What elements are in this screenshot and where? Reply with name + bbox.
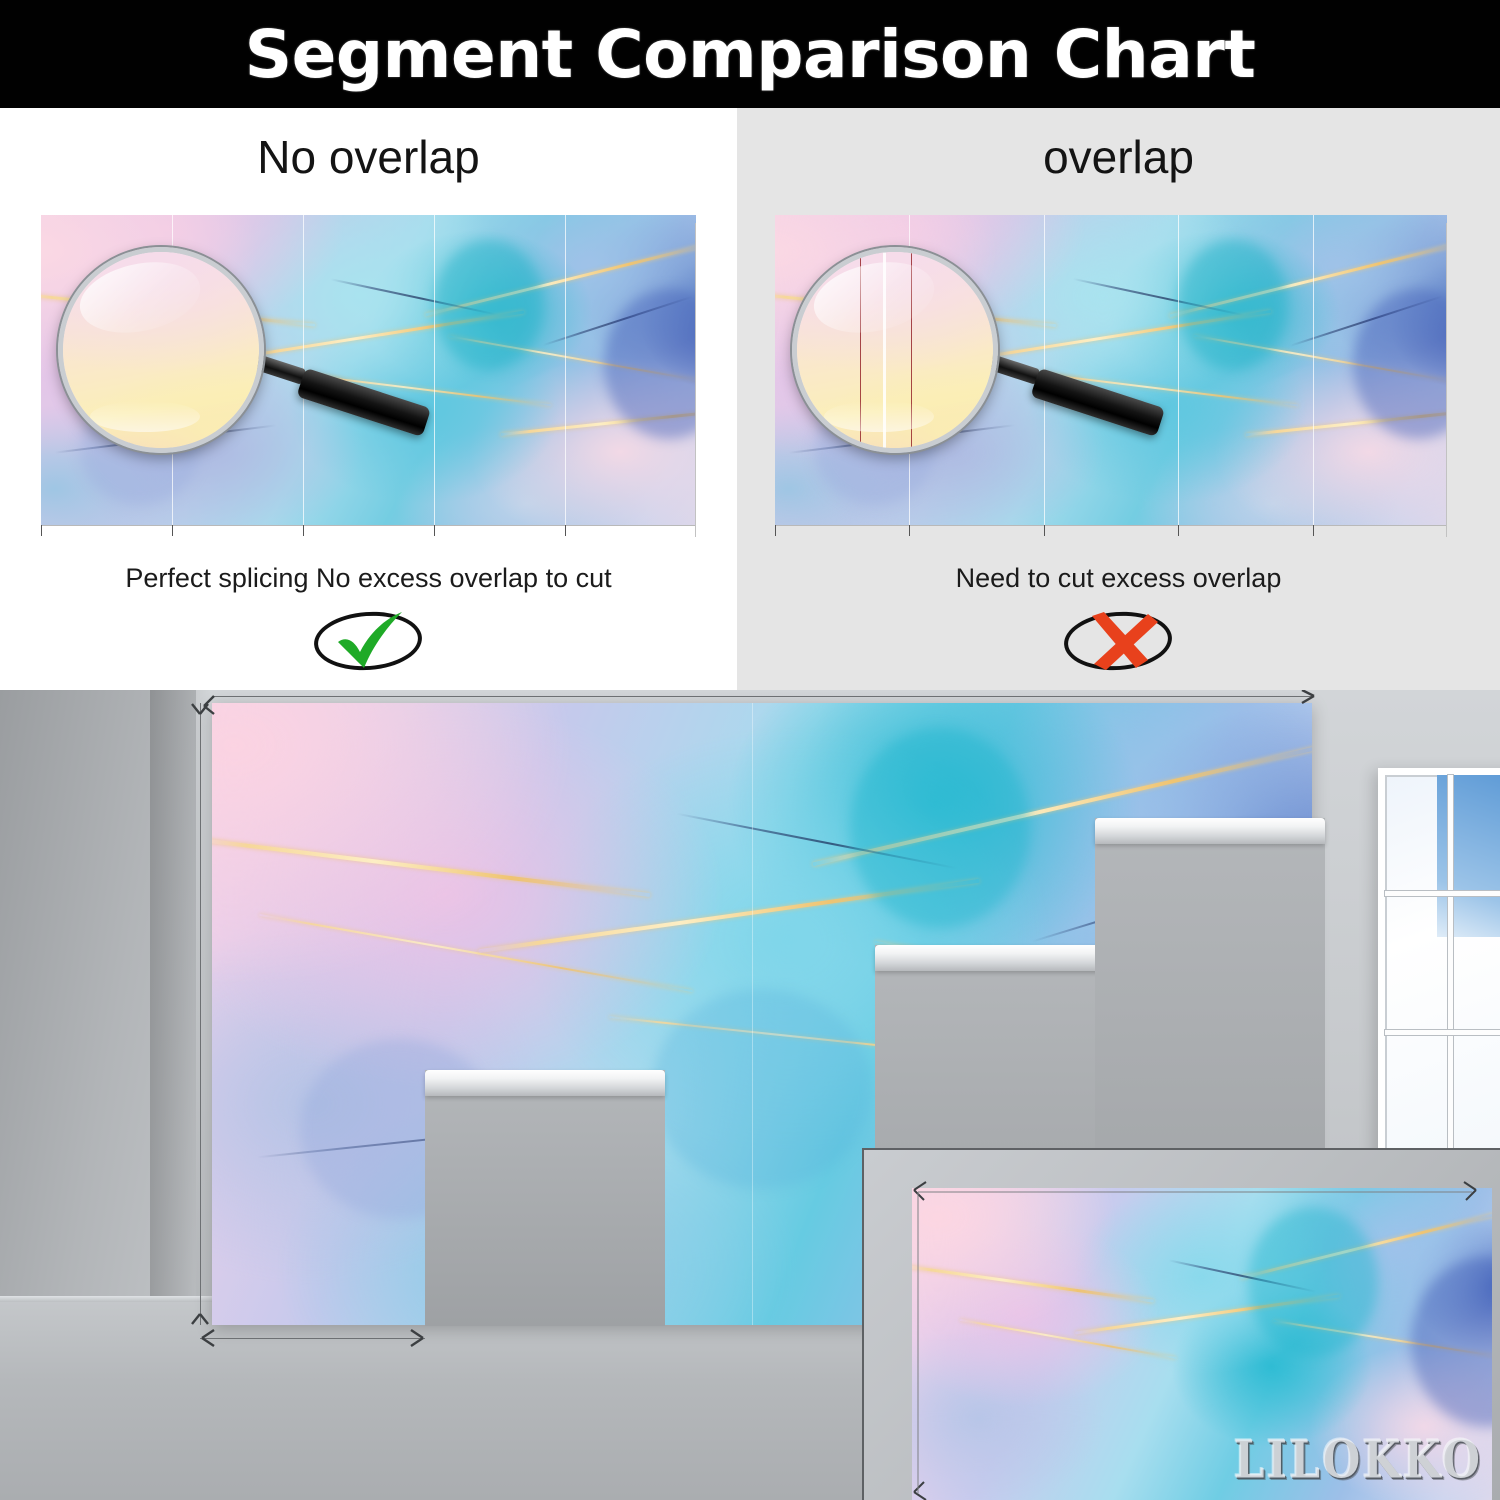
- check-glyph: [334, 610, 406, 672]
- magnifier-lens: [58, 247, 264, 453]
- room-scene: LILOKKO: [0, 690, 1500, 1500]
- panel-heading-overlap: overlap: [737, 130, 1500, 184]
- dimension-arrowheads: [190, 690, 450, 1360]
- wallpaper-roll: [425, 1070, 665, 1326]
- inset-detail-card: LILOKKO: [862, 1148, 1500, 1500]
- panel-heading-no-overlap: No overlap: [0, 130, 737, 184]
- cross-glyph: [1082, 610, 1158, 672]
- panel-no-overlap: No overlap: [0, 108, 737, 690]
- segment-seam: [565, 215, 566, 525]
- segment-seam-magnified: [883, 252, 886, 448]
- mural-seam: [752, 703, 753, 1325]
- panel-caption-overlap: Need to cut excess overlap: [737, 563, 1500, 594]
- panel-overlap: overlap: [737, 108, 1500, 690]
- red-cross-icon: [1060, 608, 1178, 674]
- magnifier-glass-left: [58, 247, 264, 453]
- title-banner: Segment Comparison Chart: [0, 0, 1500, 108]
- overlap-marker-left: [860, 252, 861, 448]
- watermark: LILOKKO: [1234, 1430, 1482, 1490]
- comparison-row: No overlap: [0, 108, 1500, 690]
- panel-caption-no-overlap: Perfect splicing No excess overlap to cu…: [0, 563, 737, 594]
- room-window: [1378, 768, 1500, 1168]
- sample-image-overlap: [775, 215, 1447, 525]
- green-check-icon: [310, 608, 428, 674]
- segment-seam: [434, 215, 435, 525]
- sample-image-no-overlap: [41, 215, 696, 525]
- magnifier-lens: [792, 247, 998, 453]
- segment-seam: [1178, 215, 1179, 525]
- page-title: Segment Comparison Chart: [245, 16, 1256, 93]
- overlap-marker-right: [911, 252, 912, 448]
- dimension-arrowhead-right: [1270, 690, 1330, 730]
- magnifier-glass-right: [792, 247, 998, 453]
- segment-ruler-right: [775, 525, 1447, 539]
- segment-seam: [1313, 215, 1314, 525]
- segment-ruler-left: [41, 525, 696, 539]
